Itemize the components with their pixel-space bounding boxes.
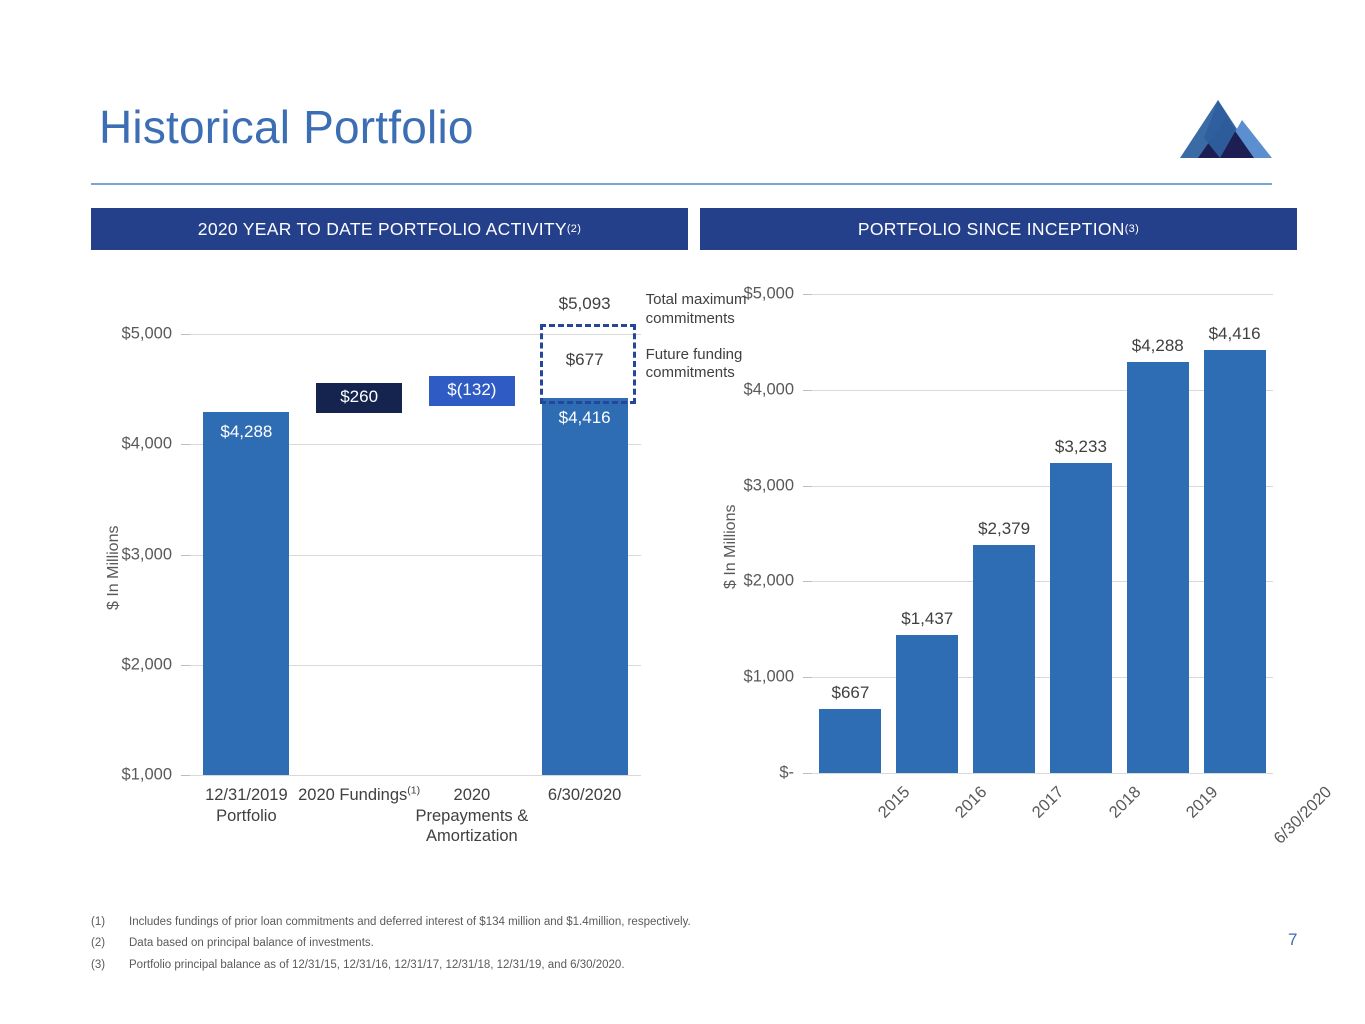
gridline-right	[812, 294, 1273, 295]
bar-value-label: $4,288	[1132, 336, 1184, 356]
chart-ytd-activity: $ In Millions $1,000$2,000$3,000$4,000$5…	[91, 270, 691, 870]
y-axis-label-left: $1,000	[122, 766, 172, 785]
y-tick-left	[181, 444, 190, 445]
x-axis-label-right: 6/30/2020	[1270, 783, 1335, 848]
plot-area-left: $1,000$2,000$3,000$4,000$5,000$4,288$260…	[190, 334, 641, 775]
plot-area-right: $-$1,000$2,000$3,000$4,000$5,000$667$1,4…	[812, 294, 1273, 773]
panel-header-left: 2020 YEAR TO DATE PORTFOLIO ACTIVITY(2)	[91, 208, 688, 250]
y-axis-label-left: $4,000	[122, 435, 172, 454]
panel-header-left-title: 2020 YEAR TO DATE PORTFOLIO ACTIVITY	[198, 219, 567, 240]
mountain-logo-icon	[1176, 94, 1276, 164]
x-axis-label-left: 6/30/2020	[500, 785, 670, 806]
y-axis-label-left: $5,000	[122, 325, 172, 344]
footnote-text: Includes fundings of prior loan commitme…	[129, 912, 991, 933]
y-tick-left	[181, 334, 190, 335]
bar-4	[542, 398, 628, 775]
panel-header-right: PORTFOLIO SINCE INCEPTION(3)	[700, 208, 1297, 250]
y-axis-title-right: $ In Millions	[722, 504, 740, 588]
y-tick-right	[803, 390, 812, 391]
bar-value-label: $3,233	[1055, 437, 1107, 457]
y-axis-label-left: $3,000	[122, 545, 172, 564]
total-maximum-commitments-value: $5,093	[559, 294, 611, 314]
bar-value-label: $(132)	[447, 380, 496, 400]
x-axis-label-right: 2016	[952, 783, 991, 822]
slide-canvas: Historical Portfolio 2020 YEAR TO DATE P…	[0, 0, 1365, 1024]
bar-2018	[1050, 463, 1112, 773]
footnote-text: Portfolio principal balance as of 12/31/…	[129, 955, 991, 976]
bar-2016	[896, 635, 958, 773]
bar-2015	[819, 709, 881, 773]
y-axis-label-right: $-	[779, 764, 794, 783]
y-axis-label-right: $5,000	[744, 285, 794, 304]
footnote-row: (1) Includes fundings of prior loan comm…	[91, 912, 991, 933]
title-divider	[91, 183, 1272, 185]
y-axis-label-right: $1,000	[744, 668, 794, 687]
y-tick-left	[181, 555, 190, 556]
footnote-row: (2) Data based on principal balance of i…	[91, 933, 991, 954]
x-axis-label-right: 2017	[1029, 783, 1068, 822]
footnote-text: Data based on principal balance of inves…	[129, 933, 991, 954]
bar-value-label: $4,416	[1209, 324, 1261, 344]
y-tick-left	[181, 665, 190, 666]
page-title: Historical Portfolio	[99, 101, 474, 154]
bar-2019	[1127, 362, 1189, 773]
y-tick-right	[803, 486, 812, 487]
y-tick-right	[803, 581, 812, 582]
page-number: 7	[1288, 930, 1297, 950]
x-axis-label-right: 2019	[1183, 783, 1222, 822]
mountain-logo	[1176, 94, 1276, 164]
future-funding-value-label: $677	[566, 350, 604, 370]
panel-header-right-title: PORTFOLIO SINCE INCEPTION	[858, 219, 1125, 240]
footnote-number: (2)	[91, 933, 129, 954]
y-tick-right	[803, 773, 812, 774]
bar-value-label: $4,416	[559, 408, 611, 428]
y-axis-title-left: $ In Millions	[105, 525, 123, 609]
y-axis-label-right: $3,000	[744, 476, 794, 495]
bar-2017	[973, 545, 1035, 773]
bar-value-label: $667	[831, 683, 869, 703]
y-axis-label-right: $4,000	[744, 380, 794, 399]
y-axis-label-left: $2,000	[122, 655, 172, 674]
footnote-row: (3) Portfolio principal balance as of 12…	[91, 955, 991, 976]
y-axis-label-right: $2,000	[744, 572, 794, 591]
bar-value-label: $260	[340, 387, 378, 407]
footnote-number: (1)	[91, 912, 129, 933]
gridline-left	[190, 775, 641, 776]
bar-1	[203, 412, 289, 775]
x-axis-label-right: 2018	[1106, 783, 1145, 822]
y-tick-right	[803, 677, 812, 678]
bar-value-label: $2,379	[978, 519, 1030, 539]
footnote-number: (3)	[91, 955, 129, 976]
bar-value-label: $1,437	[901, 609, 953, 629]
x-axis-label-right: 2015	[875, 783, 914, 822]
chart-since-inception: $ In Millions $-$1,000$2,000$3,000$4,000…	[700, 270, 1300, 870]
y-tick-right	[803, 294, 812, 295]
bar-value-label: $4,288	[220, 422, 272, 442]
gridline-right	[812, 773, 1273, 774]
y-tick-left	[181, 775, 190, 776]
footnotes: (1) Includes fundings of prior loan comm…	[91, 912, 991, 976]
bar-6/30/2020	[1204, 350, 1266, 773]
